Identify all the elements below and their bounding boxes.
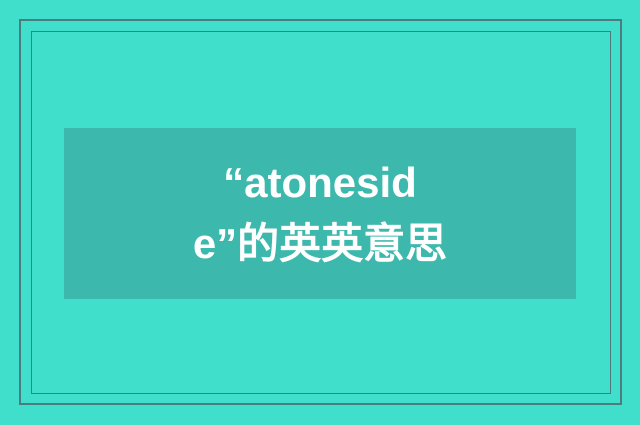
graphic-card: “atoneside”的英英意思 bbox=[0, 0, 640, 425]
page-title: “atoneside”的英英意思 bbox=[185, 153, 455, 275]
content-panel: “atoneside”的英英意思 bbox=[64, 128, 576, 299]
